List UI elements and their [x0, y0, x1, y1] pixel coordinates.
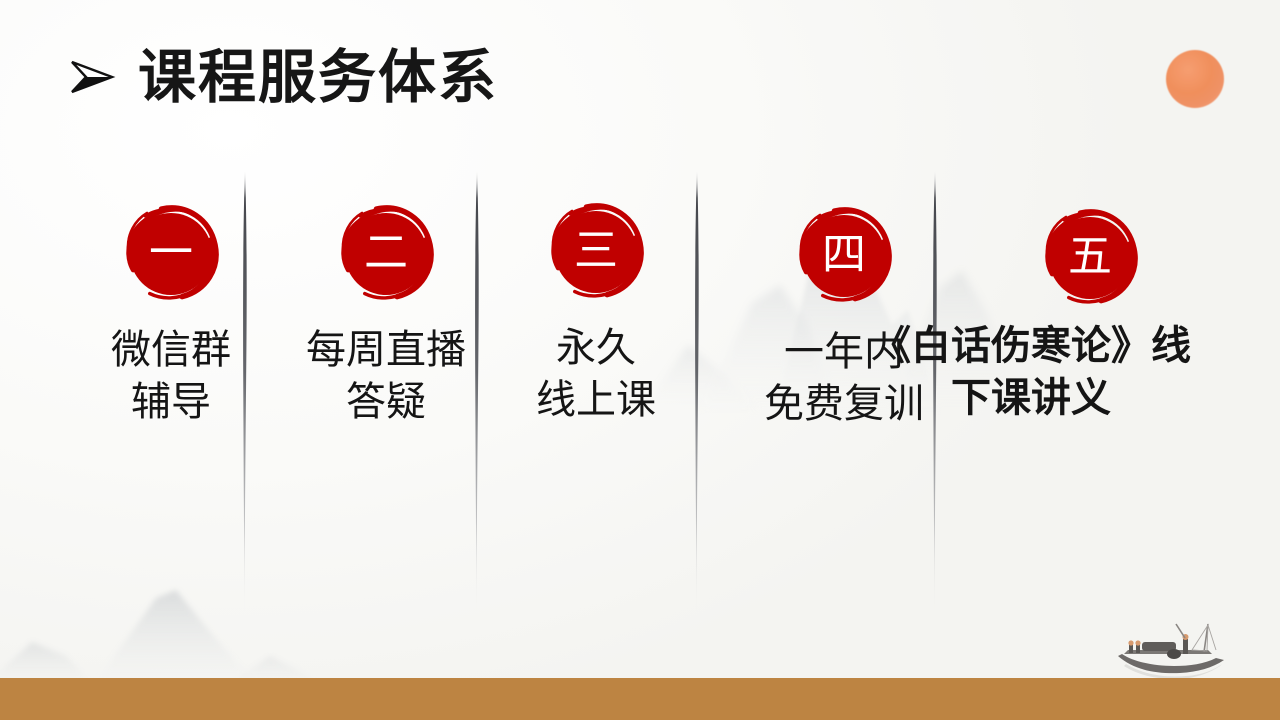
- slide-canvas: 课程服务体系: [0, 0, 1280, 720]
- seal-number: 四: [788, 200, 900, 312]
- service-items-row: 一 微信群 辅导 二 每周直播 答疑 三 永久 线上课 四: [0, 0, 1280, 720]
- service-item[interactable]: 一 微信群 辅导: [104, 198, 238, 428]
- seal-number: 五: [1034, 202, 1146, 314]
- seal-number: 一: [115, 198, 227, 310]
- seal-badge: 五: [1034, 202, 1146, 314]
- service-item[interactable]: 五 《白话伤寒论》线下课讲义: [1034, 202, 1146, 424]
- seal-badge: 四: [788, 200, 900, 312]
- seal-number: 二: [330, 198, 442, 310]
- service-item-label: 微信群 辅导: [66, 324, 276, 428]
- bottom-accent-bar: [0, 678, 1280, 720]
- service-item-label: 永久 线上课: [491, 322, 701, 426]
- service-item-label: 每周直播 答疑: [258, 324, 514, 428]
- service-item[interactable]: 二 每周直播 答疑: [302, 198, 470, 428]
- seal-number: 三: [540, 196, 652, 308]
- service-item[interactable]: 三 永久 线上课: [527, 196, 665, 426]
- service-item-label: 《白话伤寒论》线下课讲义: [857, 320, 1205, 424]
- seal-badge: 一: [115, 198, 227, 310]
- seal-badge: 二: [330, 198, 442, 310]
- seal-badge: 三: [540, 196, 652, 308]
